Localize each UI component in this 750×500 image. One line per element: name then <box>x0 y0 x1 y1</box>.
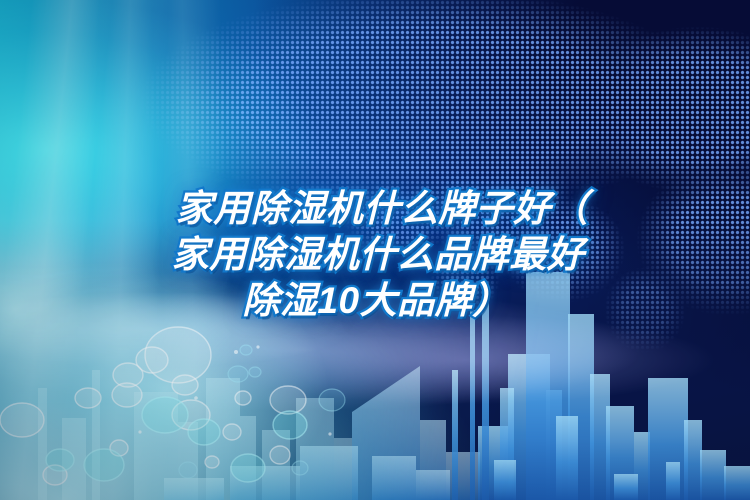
headline-line-1: 家用除湿机什么牌子好（ <box>0 186 750 232</box>
headline-line-2: 家用除湿机什么品牌最好 <box>0 232 750 278</box>
page-title: 家用除湿机什么牌子好（ 家用除湿机什么品牌最好 除湿10大品牌） <box>0 186 750 324</box>
banner-image: 家用除湿机什么牌子好（ 家用除湿机什么品牌最好 除湿10大品牌） <box>0 0 750 500</box>
headline-line-3: 除湿10大品牌） <box>0 278 750 324</box>
